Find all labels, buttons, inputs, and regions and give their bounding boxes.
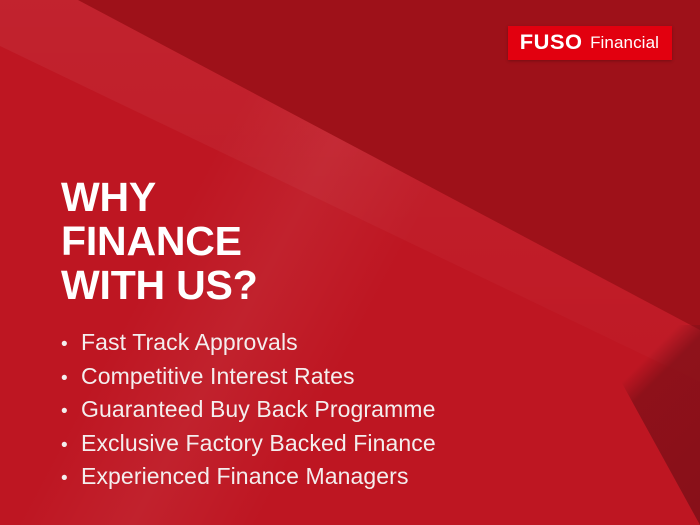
headline-line-3: WITH US? (61, 263, 258, 307)
bullet-point-icon: • (61, 330, 81, 361)
financial-wordmark: Financial (590, 34, 659, 51)
list-item: • Competitive Interest Rates (61, 361, 436, 395)
list-item-label: Fast Track Approvals (81, 327, 298, 358)
page-title: WHY FINANCE WITH US? (61, 175, 258, 307)
list-item: • Fast Track Approvals (61, 327, 436, 361)
bullet-point-icon: • (61, 364, 81, 395)
benefits-list: • Fast Track Approvals • Competitive Int… (61, 327, 436, 495)
list-item-label: Competitive Interest Rates (81, 361, 355, 392)
bullet-point-icon: • (61, 397, 81, 428)
headline-line-1: WHY (61, 175, 258, 219)
headline-line-2: FINANCE (61, 219, 258, 263)
fuso-wordmark: FUSO (520, 32, 583, 53)
bullet-point-icon: • (61, 464, 81, 495)
finance-promo-banner: FUSO Financial WHY FINANCE WITH US? • Fa… (0, 0, 700, 525)
list-item-label: Guaranteed Buy Back Programme (81, 394, 435, 425)
list-item: • Guaranteed Buy Back Programme (61, 394, 436, 428)
list-item-label: Experienced Finance Managers (81, 461, 409, 492)
list-item: • Exclusive Factory Backed Finance (61, 428, 436, 462)
fuso-financial-logo[interactable]: FUSO Financial (508, 26, 672, 60)
list-item-label: Exclusive Factory Backed Finance (81, 428, 436, 459)
bullet-point-icon: • (61, 431, 81, 462)
list-item: • Experienced Finance Managers (61, 461, 436, 495)
